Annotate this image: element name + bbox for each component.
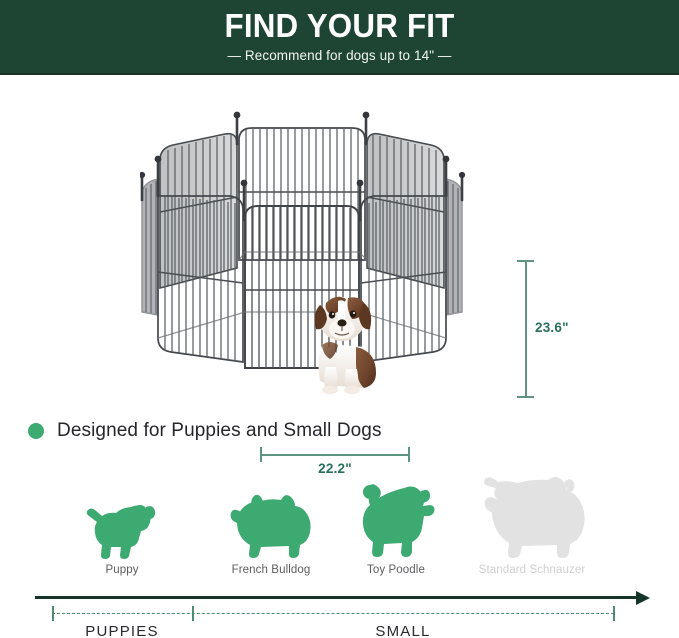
width-dimension-label: 22.2" xyxy=(260,461,410,476)
playpen-panel-back-center xyxy=(239,128,365,260)
axis-dashed-range-line xyxy=(52,613,614,614)
height-dimension-label: 23.6" xyxy=(535,320,569,335)
dog-size-scale: Puppy French Bulldog Toy Poodle xyxy=(0,478,679,588)
bullet-dot-icon xyxy=(28,423,44,439)
axis-arrow-line xyxy=(35,596,645,599)
dog-scale-item-standard-schnauzer: Standard Schnauzer xyxy=(452,478,612,586)
header-banner: FIND YOUR FIT — Recommend for dogs up to… xyxy=(0,0,679,75)
dog-label: Standard Schnauzer xyxy=(452,564,612,576)
designed-for-label: Designed for Puppies and Small Dogs xyxy=(57,420,382,442)
product-illustration: 23.6" 22.2" xyxy=(0,75,679,405)
playpen-panel-far-right xyxy=(446,179,462,315)
width-dimension-cap-left xyxy=(260,447,262,462)
height-dimension-line xyxy=(525,260,527,397)
puppy-image xyxy=(296,289,394,397)
axis-arrow-head-icon xyxy=(636,591,650,605)
height-dimension-cap-bottom xyxy=(517,396,534,398)
axis-tick xyxy=(192,606,194,621)
playpen-panel-far-left xyxy=(142,179,158,315)
dog-label: Puppy xyxy=(42,564,202,576)
axis-tick xyxy=(52,606,54,621)
puppy-silhouette-icon xyxy=(42,478,202,560)
header-subtitle: — Recommend for dogs up to 14" — xyxy=(0,47,679,64)
width-dimension-line xyxy=(260,454,410,456)
width-dimension-cap-right xyxy=(408,447,410,462)
dog-scale-item-puppy: Puppy xyxy=(42,478,202,586)
axis-category-label-small: SMALL xyxy=(343,623,463,638)
axis-category-label-puppies: PUPPIES xyxy=(62,623,182,638)
standard-schnauzer-silhouette-icon xyxy=(452,478,612,560)
axis-tick xyxy=(613,606,615,621)
height-dimension-cap-top xyxy=(517,260,534,262)
size-axis: PUPPIES SMALL xyxy=(0,588,679,638)
infographic-page: FIND YOUR FIT — Recommend for dogs up to… xyxy=(0,0,679,638)
page-title: FIND YOUR FIT xyxy=(17,8,662,44)
designed-for-row: Designed for Puppies and Small Dogs xyxy=(28,420,382,442)
